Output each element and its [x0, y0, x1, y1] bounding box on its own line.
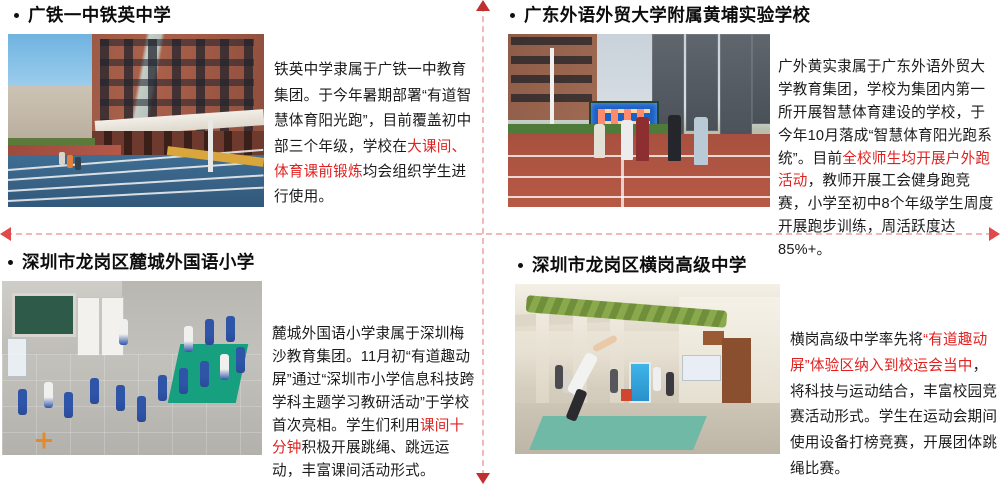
vertical-divider-line [482, 6, 484, 476]
desc-part: ，将科技与运动结合，丰富校园竞赛活动形式。学生在运动会期间使用设备打榜竞赛，开展… [790, 358, 997, 477]
school-title-row: 深圳市龙岗区麓城外国语小学 [0, 240, 478, 274]
school-photo [2, 281, 262, 455]
school-photo [508, 34, 770, 207]
school-body-row: 铁英中学隶属于广铁一中教育集团。于今年暑期部署“有道智慧体育阳光跑”，目前覆盖初… [0, 27, 478, 226]
quadrant-top-left: 广铁一中铁英中学 铁英中学隶属于广铁一中教育集团。于今年暑期部署“有道智慧体育阳… [0, 0, 478, 230]
photo-x-mark [36, 432, 52, 448]
school-title-row: 广东外语外贸大学附属黄埔实验学校 [490, 0, 1000, 27]
school-title: 深圳市龙岗区麓城外国语小学 [22, 252, 255, 274]
school-body-row: 横岗高级中学率先将“有道趣动屏”体验区纳入到校运会当中，将科技与运动结合，丰富校… [490, 277, 1000, 497]
arrow-up-icon [476, 0, 490, 11]
school-photo [515, 284, 780, 454]
school-photo [8, 34, 264, 207]
school-description: 广外黄实隶属于广东外语外贸大学教育集团，学校为集团内第一所开展智慧体育建设的学校… [778, 48, 994, 261]
school-title: 深圳市龙岗区横岗高级中学 [532, 255, 747, 277]
school-description: 麓城外国语小学隶属于深圳梅沙教育集团。11月初“有道趣动屏”通过“深圳市小学信息… [272, 295, 478, 482]
school-description: 横岗高级中学率先将“有道趣动屏”体验区纳入到校运会当中，将科技与运动结合，丰富校… [790, 298, 998, 482]
arrow-down-icon [476, 473, 490, 484]
quadrant-top-right: 广东外语外贸大学附属黄埔实验学校 广外黄实隶属于广东外语外贸大学教育集团，学校为… [490, 0, 1000, 230]
desc-part: 横岗高级中学率先将 [790, 332, 923, 348]
quadrant-bottom-right: 深圳市龙岗区横岗高级中学 横岗高级中学率先将“有道趣动屏”体验区纳入到校运会当中… [490, 240, 1000, 484]
bullet-icon [518, 263, 523, 268]
school-title-row: 广铁一中铁英中学 [0, 0, 478, 27]
school-body-row: 麓城外国语小学隶属于深圳梅沙教育集团。11月初“有道趣动屏”通过“深圳市小学信息… [0, 274, 478, 497]
school-body-row: 广外黄实隶属于广东外语外贸大学教育集团，学校为集团内第一所开展智慧体育建设的学校… [490, 27, 1000, 276]
bullet-icon [8, 260, 13, 265]
school-title-row: 深圳市龙岗区横岗高级中学 [490, 240, 1000, 277]
bullet-icon [510, 13, 515, 18]
bullet-icon [14, 13, 19, 18]
school-title: 广东外语外贸大学附属黄埔实验学校 [524, 5, 810, 27]
school-description: 铁英中学隶属于广铁一中教育集团。于今年暑期部署“有道智慧体育阳光跑”，目前覆盖初… [274, 48, 474, 210]
quadrant-bottom-left: 深圳市龙岗区麓城外国语小学 麓城外国语小学隶属于深圳梅沙教育集团。11月初“有道 [0, 240, 478, 484]
school-title: 广铁一中铁英中学 [28, 5, 171, 27]
